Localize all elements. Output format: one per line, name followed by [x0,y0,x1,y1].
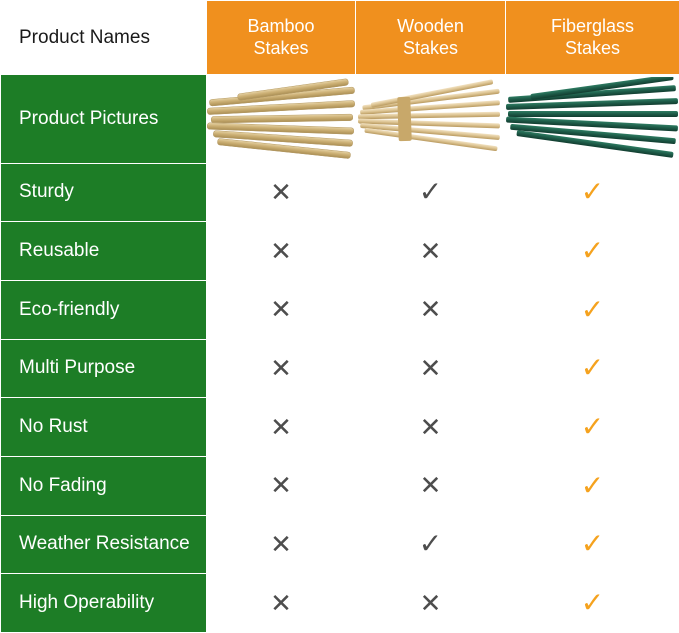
cell-bamboo: ✕ [207,456,356,515]
x-icon: ✕ [270,177,292,207]
x-icon: ✕ [270,236,292,266]
header-product-names: Product Names [1,1,207,75]
cell-wooden: ✕ [356,574,506,633]
row-label-product-pictures: Product Pictures [1,75,207,164]
cell-wooden: ✕ [356,339,506,398]
product-image-wooden [356,75,506,164]
cell-fiberglass: ✓ [506,456,679,515]
row-label: High Operability [1,574,207,633]
x-icon: ✕ [420,412,442,442]
cell-fiberglass: ✓ [506,398,679,457]
header-column-fiberglass-line1: Fiberglass [510,16,675,38]
cell-wooden: ✓ [356,515,506,574]
table-picture-row: Product Pictures [1,75,679,164]
row-label: Weather Resistance [1,515,207,574]
cell-fiberglass: ✓ [506,574,679,633]
cell-fiberglass: ✓ [506,163,679,222]
table-row: Eco-friendly ✕ ✕ ✓ [1,280,679,339]
cell-fiberglass: ✓ [506,280,679,339]
row-label: Sturdy [1,163,207,222]
cell-bamboo: ✕ [207,339,356,398]
cell-wooden: ✕ [356,280,506,339]
wooden-stakes-photo [356,77,505,161]
row-label: No Rust [1,398,207,457]
check-icon: ✓ [581,411,604,442]
cell-wooden: ✕ [356,398,506,457]
header-column-fiberglass: Fiberglass Stakes [506,1,679,75]
x-icon: ✕ [420,588,442,618]
x-icon: ✕ [270,470,292,500]
product-image-fiberglass [506,75,679,164]
table-row: No Fading ✕ ✕ ✓ [1,456,679,515]
x-icon: ✕ [420,353,442,383]
header-column-bamboo: Bamboo Stakes [207,1,356,75]
cell-bamboo: ✕ [207,163,356,222]
x-icon: ✕ [420,294,442,324]
cell-bamboo: ✕ [207,574,356,633]
header-column-wooden: Wooden Stakes [356,1,506,75]
cell-bamboo: ✕ [207,222,356,281]
table-row: Weather Resistance ✕ ✓ ✓ [1,515,679,574]
x-icon: ✕ [270,529,292,559]
header-column-wooden-line1: Wooden [360,16,501,38]
row-label: Reusable [1,222,207,281]
header-column-wooden-line2: Stakes [360,38,501,60]
check-icon: ✓ [419,176,442,207]
check-icon: ✓ [581,235,604,266]
table-row: No Rust ✕ ✕ ✓ [1,398,679,457]
check-icon: ✓ [581,294,604,325]
x-icon: ✕ [420,470,442,500]
x-icon: ✕ [270,353,292,383]
check-icon: ✓ [581,528,604,559]
row-label: Eco-friendly [1,280,207,339]
cell-bamboo: ✕ [207,398,356,457]
x-icon: ✕ [270,588,292,618]
x-icon: ✕ [420,236,442,266]
cell-fiberglass: ✓ [506,339,679,398]
cell-fiberglass: ✓ [506,222,679,281]
header-column-fiberglass-line2: Stakes [510,38,675,60]
bamboo-stakes-photo [207,77,355,161]
x-icon: ✕ [270,294,292,324]
cell-fiberglass: ✓ [506,515,679,574]
header-column-bamboo-line2: Stakes [211,38,351,60]
table-row: High Operability ✕ ✕ ✓ [1,574,679,633]
check-icon: ✓ [581,352,604,383]
check-icon: ✓ [581,176,604,207]
fiberglass-stakes-photo [506,77,679,161]
cell-wooden: ✓ [356,163,506,222]
product-comparison-table: Product Names Bamboo Stakes Wooden Stake… [0,0,679,633]
x-icon: ✕ [270,412,292,442]
row-label: Multi Purpose [1,339,207,398]
table-row: Sturdy ✕ ✓ ✓ [1,163,679,222]
table-row: Reusable ✕ ✕ ✓ [1,222,679,281]
cell-wooden: ✕ [356,222,506,281]
check-icon: ✓ [581,587,604,618]
row-label: No Fading [1,456,207,515]
product-image-bamboo [207,75,356,164]
check-icon: ✓ [419,528,442,559]
cell-wooden: ✕ [356,456,506,515]
check-icon: ✓ [581,470,604,501]
table-header-row: Product Names Bamboo Stakes Wooden Stake… [1,1,679,75]
header-column-bamboo-line1: Bamboo [211,16,351,38]
cell-bamboo: ✕ [207,280,356,339]
cell-bamboo: ✕ [207,515,356,574]
table-row: Multi Purpose ✕ ✕ ✓ [1,339,679,398]
